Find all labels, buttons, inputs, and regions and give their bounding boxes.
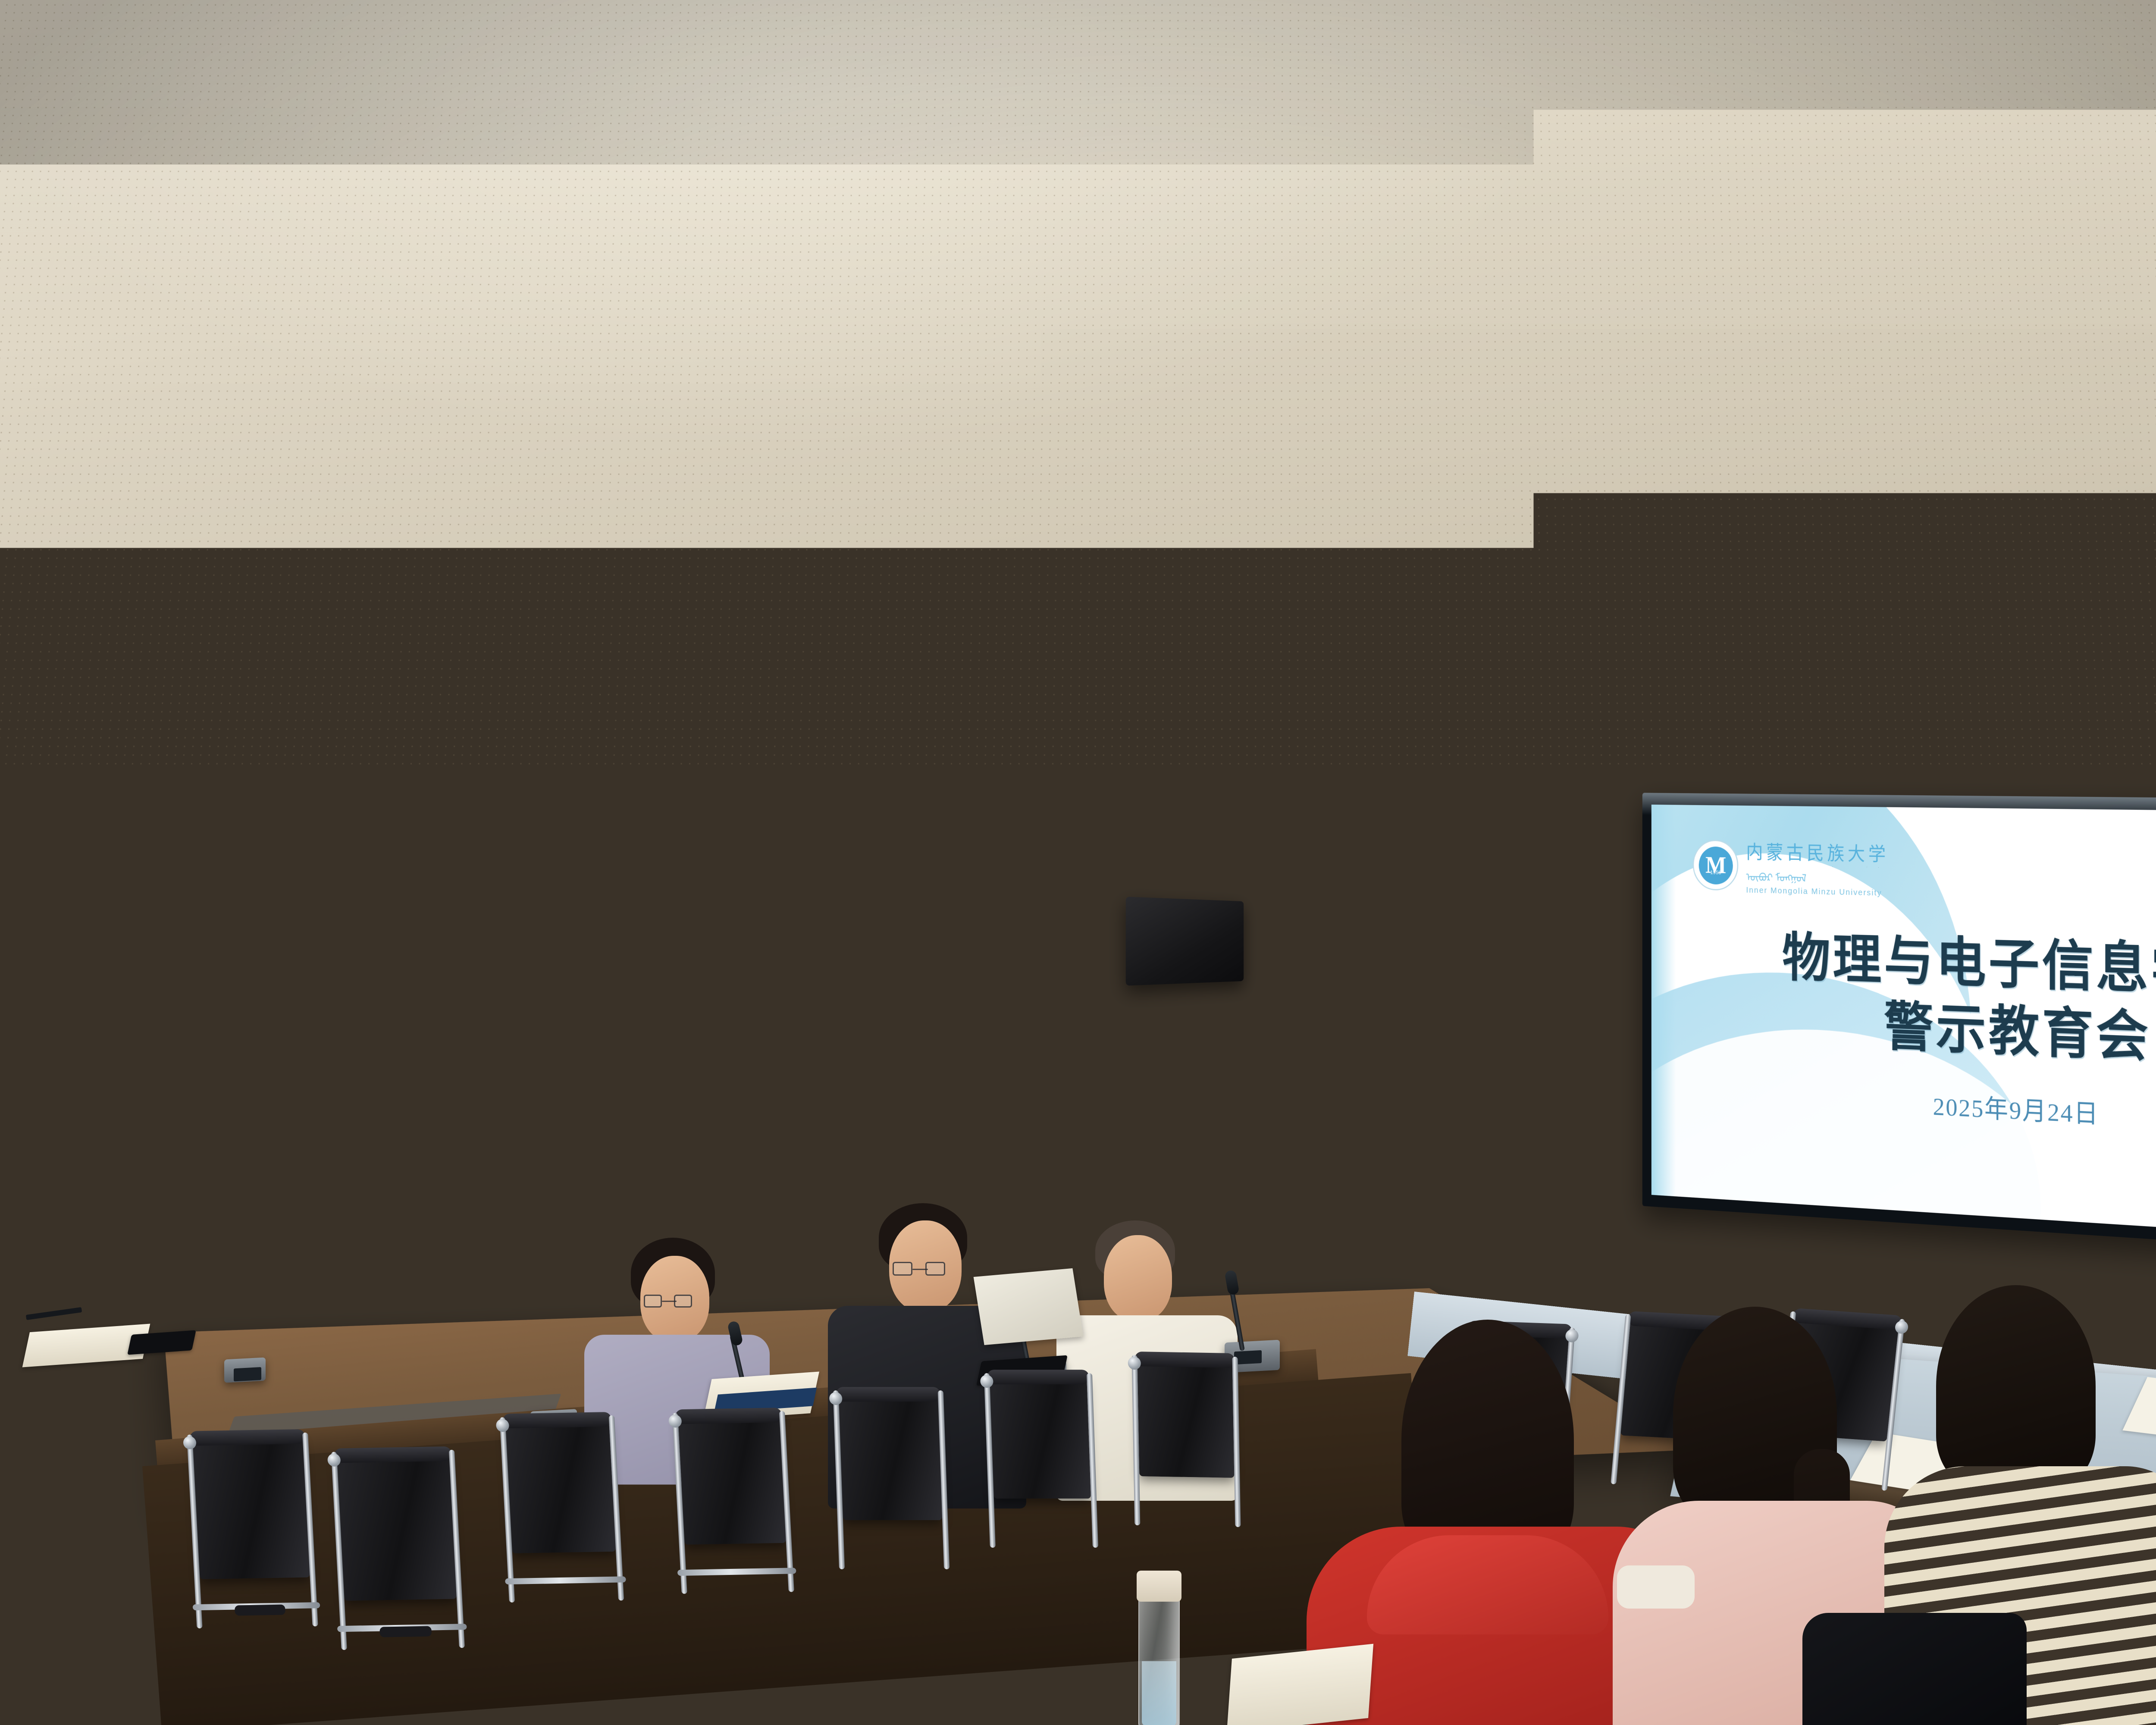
alarm-switch-red[interactable]: [1185, 1105, 1197, 1110]
face: [572, 1171, 624, 1236]
university-seal-icon: [1225, 1145, 1231, 1151]
conference-microphone-base[interactable]: [224, 1357, 266, 1383]
university-seal-icon: M 1958: [1693, 840, 1738, 891]
eyeglasses-lens: [743, 1195, 756, 1206]
sign-item: 爱护公物: [1225, 1164, 1258, 1170]
sign-item: 禁止吸烟: [1260, 1169, 1293, 1175]
chair-silhouette: [0, 1596, 190, 1725]
chair-headrest-cap: [987, 1370, 1089, 1384]
chair-backrest: [337, 1452, 457, 1601]
chair-backrest: [678, 1414, 786, 1545]
chair-headrest-cap: [190, 1429, 306, 1446]
university-seal-icon: [1290, 1189, 1301, 1201]
sign-item-label: 禁止吸烟: [1264, 1170, 1277, 1175]
monitor-logo-text: 内蒙古民族大学: [1304, 1190, 1340, 1198]
eyeglasses-lens: [893, 1262, 912, 1276]
panel-tab: [1198, 1072, 1203, 1079]
screen-display-area: M 1958 内蒙古民族大学 ᠥᠪᠥᠷ ᠮᠣᠩᠭᠣᠯ Inner Mongoli…: [1651, 805, 2156, 1244]
hair: [1401, 1320, 1574, 1561]
chair-silhouette: [1802, 1613, 2027, 1725]
sign-item-label: 节约用电: [1264, 1164, 1277, 1169]
chair-pivot-knob: [980, 1375, 993, 1388]
university-logo: M 1958 内蒙古民族大学 ᠥᠪᠥᠷ ᠮᠣᠩᠭᠣᠯ Inner Mongoli…: [1693, 836, 1889, 898]
panel-tab: [1198, 1103, 1203, 1110]
sign-body: — 温馨提示 — 爱护公物 节约用电 注意卫生 禁止吸烟: [1222, 1151, 1296, 1186]
eyeglasses-bridge: [495, 1210, 511, 1211]
logo-text-block: 内蒙古民族大学 ᠥᠪᠥᠷ ᠮᠣᠩᠭᠣᠯ Inner Mongolia Minzu…: [1746, 837, 1889, 898]
sign-item: 注意卫生: [1225, 1170, 1258, 1176]
projector-light-spill: [992, 1022, 1095, 1074]
ceiling-light-panel: [1841, 467, 2035, 527]
face: [395, 1176, 448, 1241]
conference-chair[interactable]: [1138, 1358, 1235, 1478]
fire-alarm-panel[interactable]: [1175, 1060, 1203, 1118]
wall-notice-sign: 内蒙古民族大学 — 温馨提示 — 爱护公物 节约用电 注意卫生: [1222, 1141, 1296, 1186]
chair-arm-pad: [234, 1605, 285, 1616]
hair: [1936, 1285, 2096, 1488]
hoodie-hood: [1367, 1535, 1608, 1634]
hvac-diffuser-icon: [1159, 366, 1256, 425]
projection-screen: M 1958 内蒙古民族大学 ᠥᠪᠥᠷ ᠮᠣᠩᠭᠣᠯ Inner Mongoli…: [1642, 793, 2156, 1257]
bullet-icon: [1260, 1165, 1263, 1168]
sign-item-label: 注意卫生: [1229, 1170, 1242, 1176]
eyeglasses-bridge: [912, 1269, 928, 1270]
face: [1104, 1235, 1172, 1321]
panel-tab: [1198, 1087, 1203, 1094]
conference-chair[interactable]: [678, 1414, 786, 1545]
conference-chair[interactable]: [990, 1376, 1091, 1499]
wristwatch: [1617, 1565, 1695, 1609]
curtain-light-gap: [328, 724, 339, 867]
eyeglasses-lens: [925, 1262, 945, 1276]
chair-backrest: [839, 1393, 942, 1520]
hvac-diffuser-icon: [1104, 0, 1246, 90]
eyeglasses-bridge: [662, 1301, 677, 1302]
bottle-water-level: [1142, 1661, 1176, 1725]
sign-title: — 温馨提示 —: [1225, 1154, 1293, 1163]
university-name-cn: 内蒙古民族大学: [1746, 837, 1889, 866]
face: [479, 1183, 534, 1251]
eyeglasses-lens: [483, 1206, 496, 1216]
bullet-icon: [1225, 1166, 1228, 1169]
face: [989, 1165, 1042, 1230]
chair-headrest-cap: [1134, 1352, 1235, 1368]
eyeglasses-lens: [1090, 1195, 1103, 1205]
status-led-blue: [1158, 1184, 1164, 1190]
seal-disc: M 1958: [1699, 846, 1733, 884]
face-mask: [94, 1202, 141, 1234]
chair-headrest-cap: [502, 1412, 612, 1428]
chair-backrest: [192, 1435, 310, 1579]
chair-pivot-knob: [1128, 1357, 1141, 1370]
eyeglasses-lens: [677, 1207, 690, 1218]
face: [740, 1176, 792, 1239]
chair-backrest: [990, 1376, 1091, 1499]
sign-item-label: 爱护公物: [1229, 1164, 1242, 1170]
alarm-indicator-yellow: [1178, 1080, 1188, 1083]
water-bottle[interactable]: [1138, 1587, 1180, 1725]
bullet-icon: [1225, 1172, 1228, 1175]
face: [0, 1174, 54, 1247]
sprinkler-head-icon: [946, 401, 958, 420]
ceiling-light-panel: [1453, 314, 1669, 385]
sprinkler-head-icon: [1804, 317, 1816, 336]
alarm-indicator-red: [1178, 1072, 1188, 1076]
conference-room-photo: 内蒙古民族大学 — 温馨提示 — 爱护公物 节约用电 注意卫生: [0, 0, 2156, 1725]
chair-pivot-knob: [829, 1392, 843, 1405]
hvac-diffuser-icon: [258, 336, 380, 412]
podium-top-surface: [1321, 1198, 1467, 1236]
eyeglasses-lens: [1065, 1195, 1078, 1205]
monitor-logo: 内蒙古民族大学: [1290, 1188, 1340, 1201]
sign-item: 节约用电: [1260, 1163, 1293, 1169]
conference-chair[interactable]: [192, 1435, 310, 1579]
university-name-mn: ᠥᠪᠥᠷ ᠮᠣᠩᠭᠣᠯ: [1746, 865, 1889, 887]
wall-speaker: [1126, 897, 1244, 985]
chair-headrest-cap: [334, 1446, 452, 1463]
conference-chair[interactable]: [505, 1418, 616, 1553]
face: [179, 1182, 235, 1251]
document-sheet: [974, 1268, 1084, 1345]
eyeglasses-lens: [674, 1295, 692, 1308]
chair-headrest-cap: [836, 1387, 940, 1402]
conference-chair[interactable]: [337, 1452, 457, 1601]
eyeglasses-lens: [509, 1206, 522, 1216]
chair-backrest: [505, 1418, 616, 1553]
eyeglasses-lens: [652, 1207, 665, 1218]
chair-backrest: [1138, 1358, 1235, 1478]
face: [286, 1173, 345, 1245]
conference-chair[interactable]: [839, 1393, 942, 1520]
seal-year: 1958: [1710, 869, 1721, 875]
eyeglasses-lens: [644, 1295, 662, 1308]
face: [1062, 1174, 1112, 1237]
sign-item-list: 爱护公物 节约用电 注意卫生 禁止吸烟: [1225, 1163, 1293, 1176]
presentation-slide: M 1958 内蒙古民族大学 ᠥᠪᠥᠷ ᠮᠣᠩᠭᠣᠯ Inner Mongoli…: [1651, 805, 2156, 1244]
bottle-cap[interactable]: [1137, 1571, 1181, 1602]
chair-arm-pad: [379, 1626, 432, 1637]
sign-header-text: 内蒙古民族大学: [1233, 1145, 1257, 1151]
eyeglasses-lens: [768, 1195, 781, 1206]
bullet-icon: [1260, 1171, 1263, 1174]
chair-headrest-cap: [675, 1408, 782, 1424]
